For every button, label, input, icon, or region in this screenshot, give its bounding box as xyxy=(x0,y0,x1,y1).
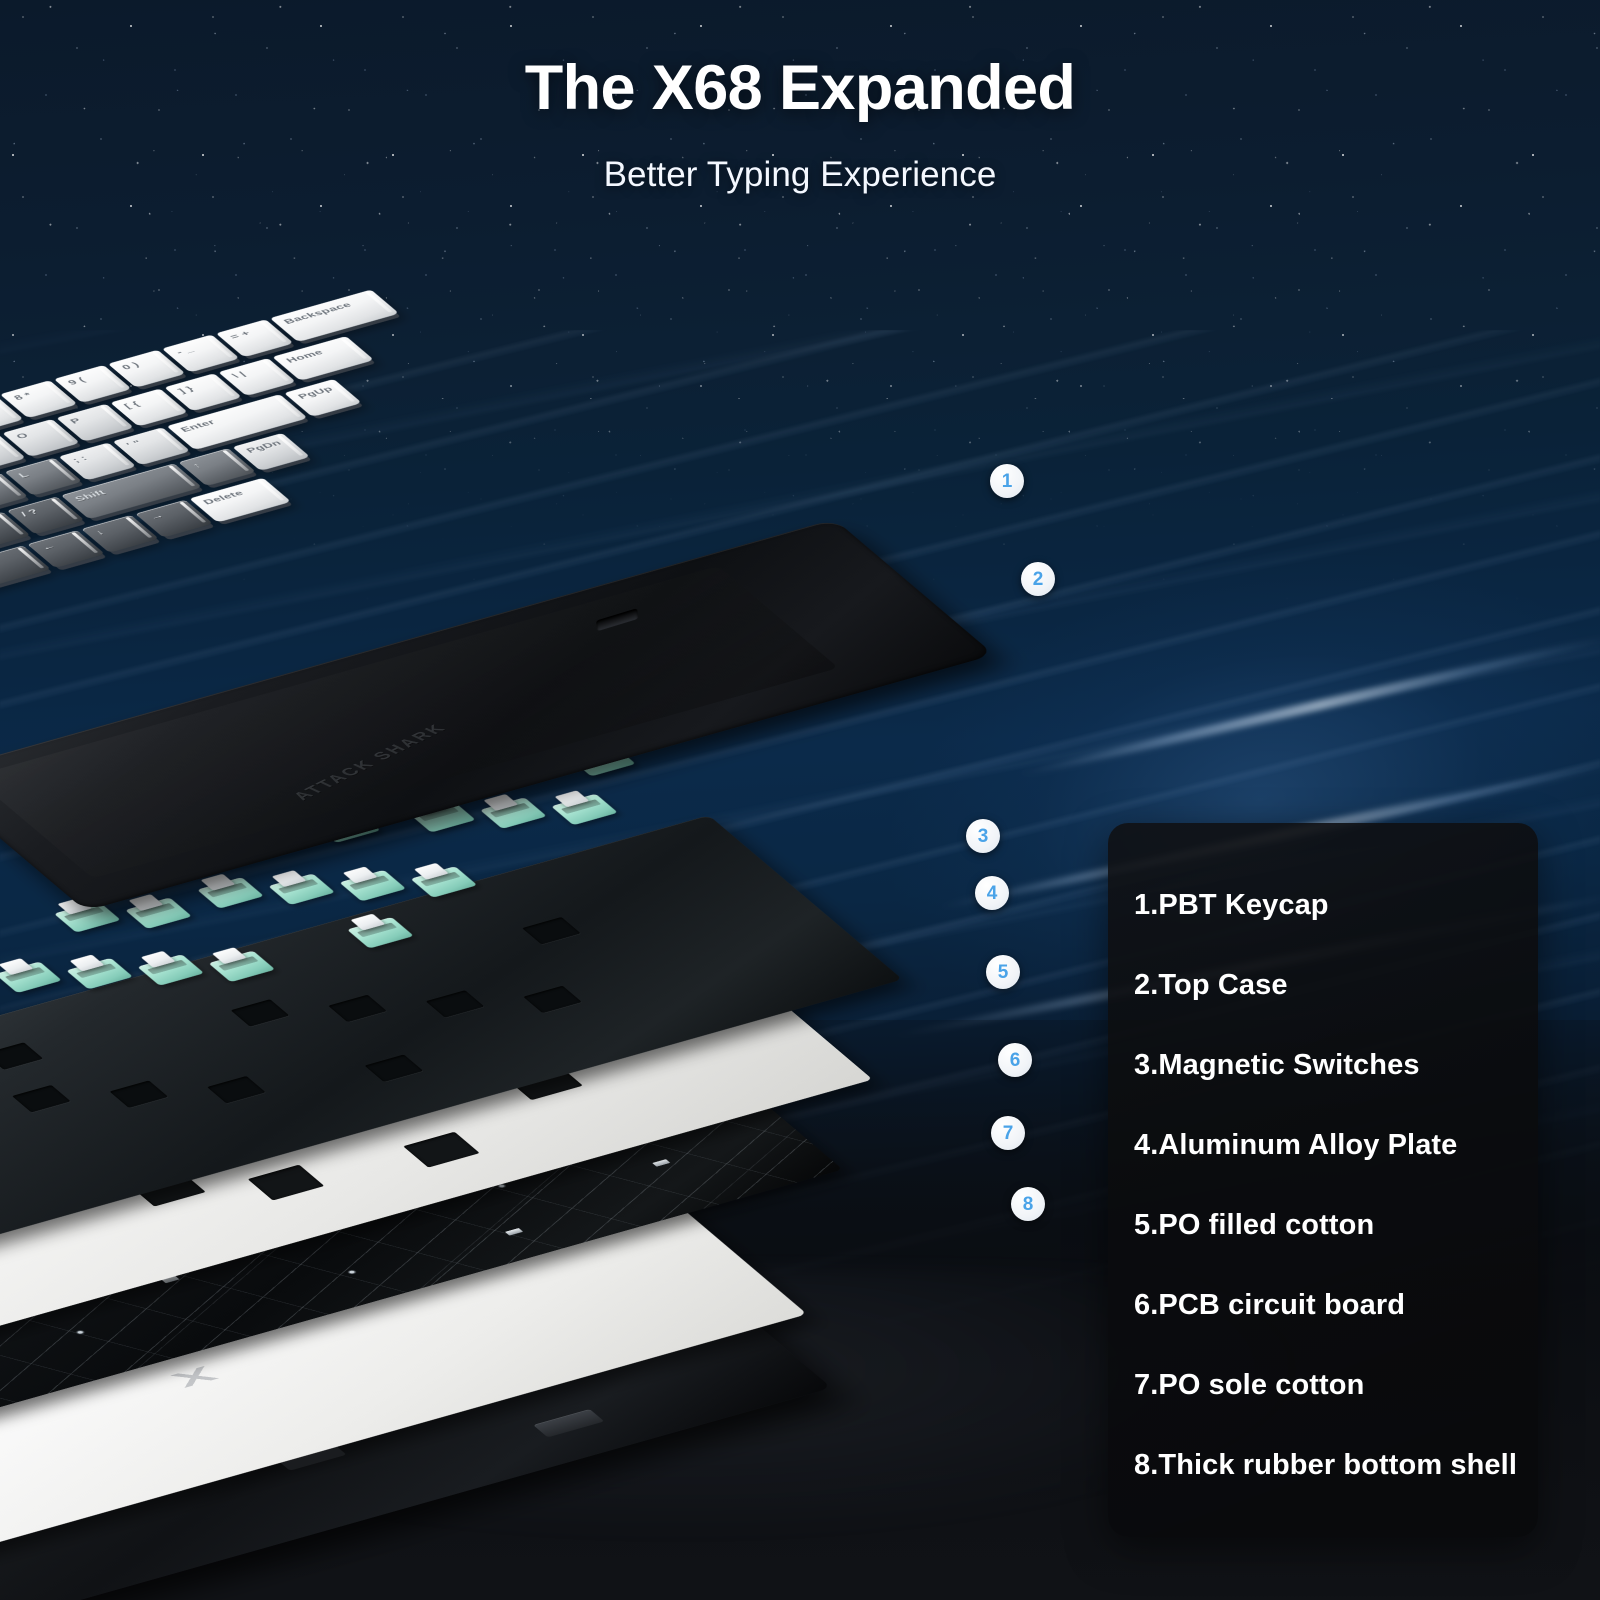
exploded-keyboard-diagram: ATTACK SHARK 4 $ 5 % 6 ^ 7 & 8 * 9 ( 0 )… xyxy=(0,150,1170,1570)
legend-item-2: 2.Top Case xyxy=(1134,945,1538,1025)
page-title: The X68 Expanded xyxy=(0,52,1600,124)
callout-badge-5: 5 xyxy=(986,955,1020,989)
keycap[interactable]: ; : xyxy=(59,443,137,481)
legend-item-5: 5.PO filled cotton xyxy=(1134,1185,1538,1265)
legend-item-8: 8.Thick rubber bottom shell xyxy=(1134,1425,1538,1505)
keycap[interactable]: ↓ xyxy=(81,515,159,553)
usb-c-port xyxy=(596,608,638,631)
callout-badge-2: 2 xyxy=(1021,562,1055,596)
keycap[interactable]: / ? xyxy=(7,497,85,535)
callout-badge-1: 1 xyxy=(990,464,1024,498)
keycap[interactable]: Delete xyxy=(189,478,291,523)
keycap[interactable]: Shift xyxy=(61,464,202,520)
callout-badge-7: 7 xyxy=(991,1116,1025,1150)
callout-badge-6: 6 xyxy=(998,1043,1032,1077)
foam-vent-cut xyxy=(168,1365,222,1388)
callout-badge-4: 4 xyxy=(975,876,1009,910)
keycap[interactable]: ↑ xyxy=(178,448,256,486)
legend-item-1: 1.PBT Keycap xyxy=(1134,865,1538,945)
callout-badge-3: 3 xyxy=(966,819,1000,853)
legend-item-4: 4.Aluminum Alloy Plate xyxy=(1134,1105,1538,1185)
legend-item-7: 7.PO sole cotton xyxy=(1134,1345,1538,1425)
callout-badge-8: 8 xyxy=(1011,1187,1045,1221)
legend-item-3: 3.Magnetic Switches xyxy=(1134,1025,1538,1105)
keycap[interactable]: L xyxy=(5,458,83,496)
keycap[interactable]: Backspace xyxy=(270,290,399,342)
keycap[interactable]: PgDn xyxy=(232,433,310,471)
legend-item-6: 6.PCB circuit board xyxy=(1134,1265,1538,1345)
brand-logo: ATTACK SHARK xyxy=(289,722,452,803)
component-legend-panel: 1.PBT Keycap 2.Top Case 3.Magnetic Switc… xyxy=(1108,823,1538,1537)
keycap[interactable]: → xyxy=(135,500,213,538)
infographic-canvas: The X68 Expanded Better Typing Experienc… xyxy=(0,0,1600,1600)
keycap[interactable]: ← xyxy=(27,530,105,568)
keycap[interactable]: Alt xyxy=(0,546,51,591)
